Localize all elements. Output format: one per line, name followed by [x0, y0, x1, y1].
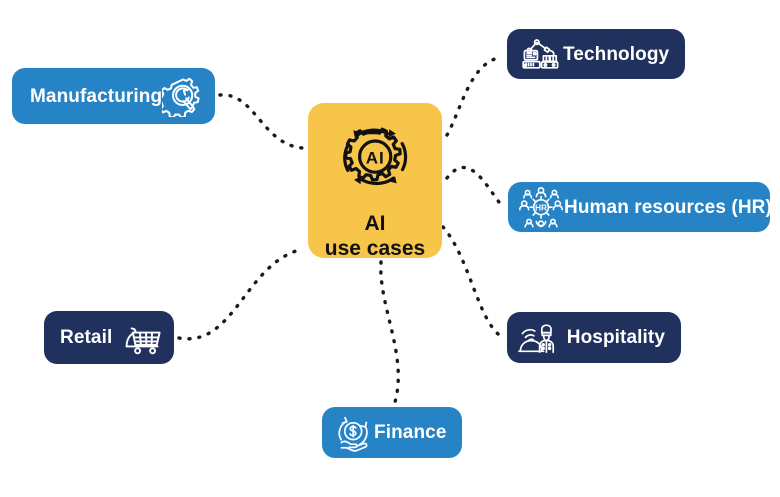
- node-hospitality[interactable]: Hospitality: [507, 312, 681, 363]
- node-manufacturing-label: Manufacturing: [30, 87, 162, 106]
- node-retail[interactable]: Retail: [44, 311, 174, 364]
- node-human-resources-label: Human resources (HR): [564, 198, 772, 217]
- node-finance[interactable]: Finance: [322, 407, 462, 458]
- hr-icon-text: HR: [535, 203, 547, 213]
- node-technology-label: Technology: [563, 45, 669, 64]
- money-bag-hand-icon: [332, 413, 374, 453]
- node-retail-label: Retail: [60, 328, 112, 347]
- ai-gear-cycle-icon: AI: [332, 117, 418, 202]
- hr-people-network-icon: HR: [518, 185, 564, 229]
- center-node-label-line2: use cases: [325, 237, 425, 262]
- diagram-canvas: AI AI use cases Manufacturing: [0, 0, 780, 497]
- center-node-label-line1: AI: [325, 212, 425, 237]
- chef-service-bell-icon: [517, 319, 561, 357]
- connector-hr: [447, 167, 503, 207]
- connector-retail: [179, 249, 303, 339]
- connector-technology: [447, 57, 502, 135]
- gear-wrench-icon: [162, 75, 204, 117]
- node-manufacturing[interactable]: Manufacturing: [12, 68, 215, 124]
- shopping-cart-icon: [122, 319, 164, 357]
- node-hospitality-label: Hospitality: [567, 328, 665, 347]
- node-human-resources[interactable]: HR Human resources (HR): [508, 182, 770, 232]
- connector-manufacturing: [220, 95, 303, 148]
- center-node-ai-use-cases[interactable]: AI AI use cases: [308, 103, 442, 258]
- connector-hospitality: [443, 227, 502, 337]
- node-technology[interactable]: Technology: [507, 29, 685, 79]
- ai-icon-text: AI: [366, 149, 385, 168]
- center-node-label: AI use cases: [325, 212, 425, 262]
- robot-arm-assembly-line-icon: [519, 34, 563, 74]
- node-finance-label: Finance: [374, 423, 447, 442]
- connector-finance: [381, 262, 398, 402]
